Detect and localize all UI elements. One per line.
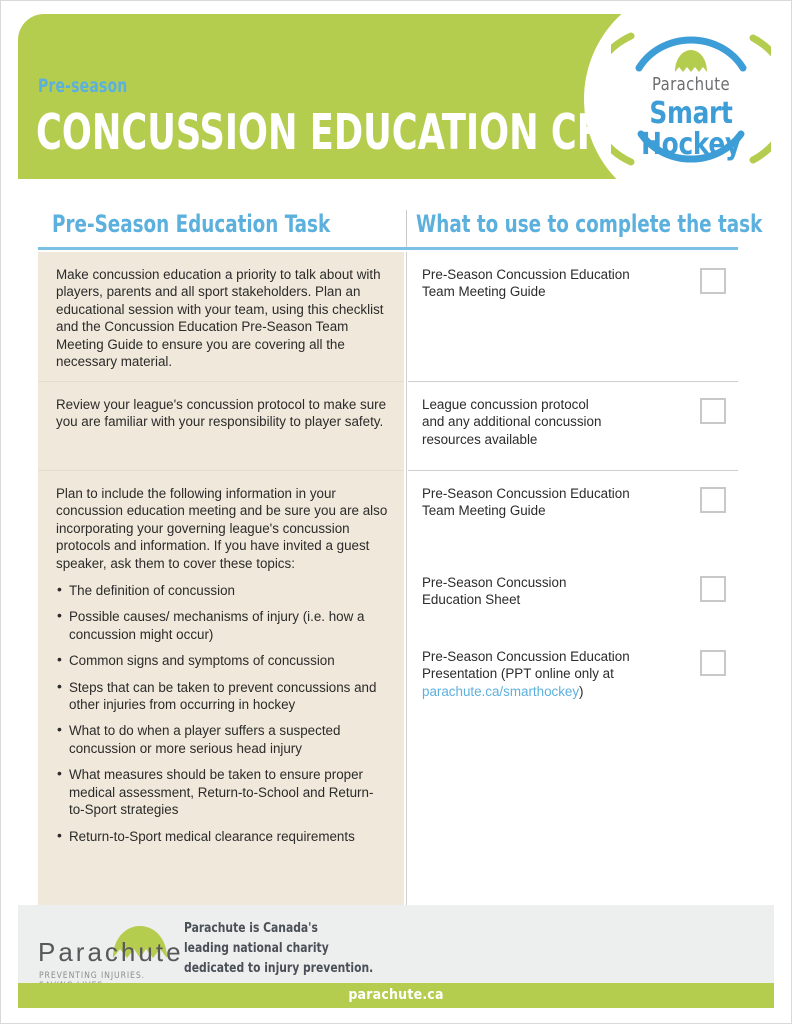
banner-kicker: Pre-season [38,75,127,97]
task-text: Make concussion education a priority to … [56,266,388,370]
resource-line: and any additional concussion [422,413,682,430]
task-bullet-list: The definition of concussion Possible ca… [56,582,388,845]
resource-cell: Pre-Season Concussion Education Sheet [408,560,738,634]
resource-line: Pre-Season Concussion [422,574,682,591]
resource-text: Pre-Season Concussion Education Team Mee… [422,485,682,520]
task-text: Plan to include the following informatio… [56,485,388,572]
resource-line: Pre-Season Concussion Education [422,648,682,665]
resource-text: Pre-Season Concussion Education Sheet [422,574,682,609]
table-body: Make concussion education a priority to … [38,252,738,918]
resource-cell: Pre-Season Concussion Education Team Mee… [408,252,738,381]
resource-line: Team Meeting Guide [422,283,682,300]
resource-text: League concussion protocol and any addit… [422,396,682,448]
parachute-wordmark: Parachute [38,937,184,968]
footer-url-bar: parachute.ca [18,983,774,1008]
resource-text: Pre-Season Concussion Education Presenta… [422,648,682,700]
logo-hockey-word: Hockey [617,127,764,162]
checkbox[interactable] [700,268,726,294]
smart-hockey-logo: Parachute Smart Hockey [611,22,771,174]
list-item: Common signs and symptoms of concussion [56,652,388,669]
footer-copy: Parachute is Canada's leading national c… [184,918,373,978]
table-row: Make concussion education a priority to … [38,252,404,381]
header-column-divider [406,210,407,248]
page-root: Pre-season CONCUSSION EDUCATION CHECKLIS… [0,0,792,1024]
task-column: Make concussion education a priority to … [38,252,404,918]
resource-line: Presentation (PPT online only at [422,665,682,682]
checklist-table: Pre-Season Education Task What to use to… [38,210,738,918]
resource-line: Pre-Season Concussion Education [422,485,682,502]
list-item: Steps that can be taken to prevent concu… [56,679,388,714]
task-text: Review your league's concussion protocol… [56,396,388,431]
list-item: Return-to-Sport medical clearance requir… [56,828,388,845]
logo-wordmark: Parachute Smart Hockey [611,22,771,174]
footer-copy-line: dedicated to injury prevention. [184,958,373,978]
resource-cell: Pre-Season Concussion Education Presenta… [408,634,738,724]
checkbox[interactable] [700,650,726,676]
checkbox[interactable] [700,398,726,424]
list-item: The definition of concussion [56,582,388,599]
table-row: Review your league's concussion protocol… [38,381,404,470]
resource-cell: League concussion protocol and any addit… [408,381,738,470]
link-tail: ) [579,684,583,699]
logo-parachute-word: Parachute [617,74,764,95]
list-item: What measures should be taken to ensure … [56,766,388,818]
checkbox[interactable] [700,576,726,602]
resource-line: Education Sheet [422,591,682,608]
smarthockey-link[interactable]: parachute.ca/smarthockey [422,684,579,699]
table-row: Plan to include the following informatio… [38,470,404,917]
footer-copy-line: Parachute is Canada's [184,918,373,938]
parachute-logo: Parachute PREVENTING INJURIES. SAVING LI… [38,921,178,973]
resource-column: Pre-Season Concussion Education Team Mee… [408,252,738,918]
footer-url[interactable]: parachute.ca [18,987,774,1003]
resource-line: Team Meeting Guide [422,502,682,519]
column-header-task: Pre-Season Education Task [52,210,330,238]
header-underline [38,247,738,250]
resource-text: Pre-Season Concussion Education Team Mee… [422,266,682,301]
list-item: What to do when a player suffers a suspe… [56,722,388,757]
footer: Parachute PREVENTING INJURIES. SAVING LI… [18,905,774,983]
list-item: Possible causes/ mechanisms of injury (i… [56,608,388,643]
table-header-row: Pre-Season Education Task What to use to… [38,210,738,252]
checkbox[interactable] [700,487,726,513]
resource-cell: Pre-Season Concussion Education Team Mee… [408,470,738,560]
column-divider [406,252,407,918]
column-header-resource: What to use to complete the task [416,210,762,238]
resource-line: Pre-Season Concussion Education [422,266,682,283]
resource-line-with-link: parachute.ca/smarthockey) [422,683,682,700]
logo-smart-word: Smart [617,96,764,131]
resource-line: resources available [422,431,682,448]
footer-copy-line: leading national charity [184,938,373,958]
resource-line: League concussion protocol [422,396,682,413]
